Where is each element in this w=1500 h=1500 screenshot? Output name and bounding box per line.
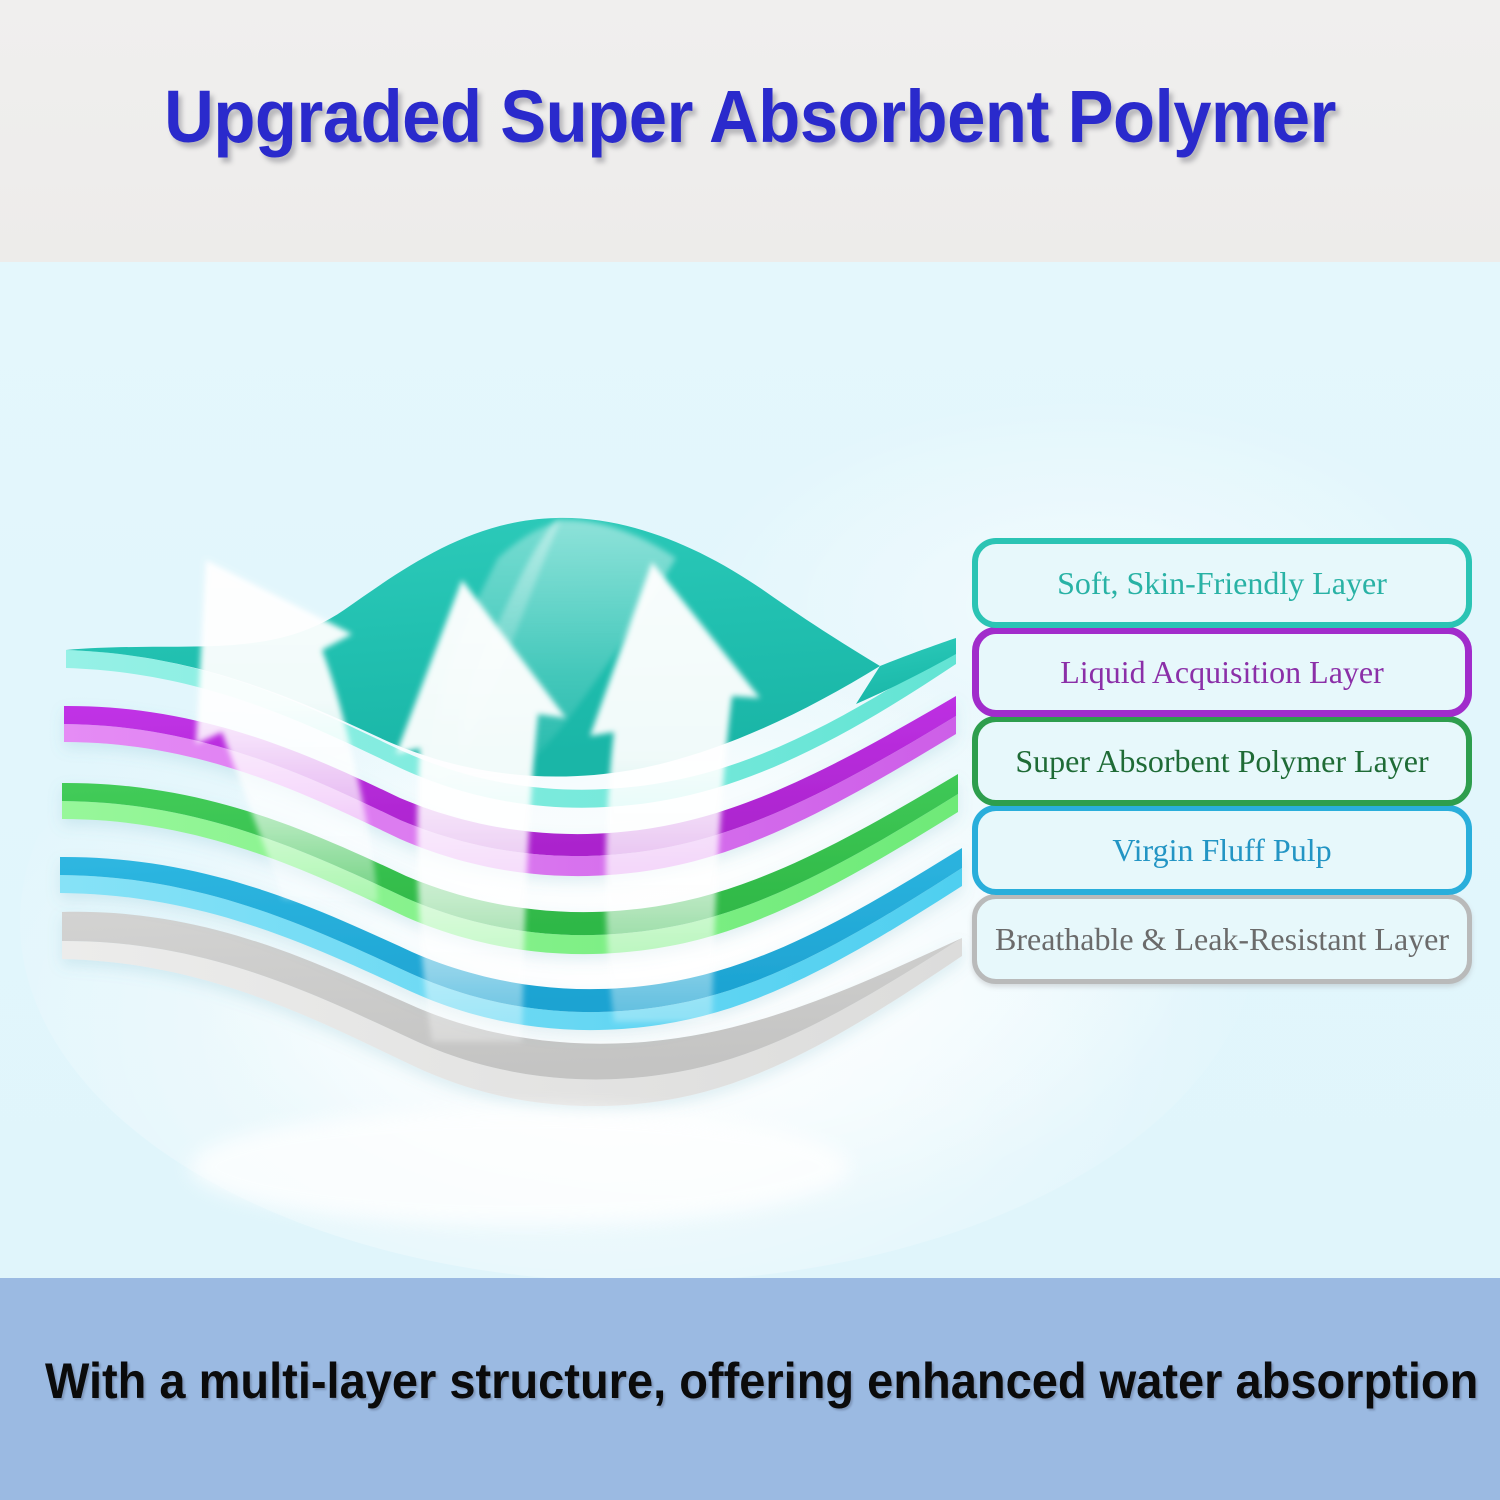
- legend-item-label: Super Absorbent Polymer Layer: [1015, 745, 1428, 777]
- legend-item-label: Breathable & Leak-Resistant Layer: [995, 923, 1449, 955]
- legend-item-super-absorbent-polymer[interactable]: Super Absorbent Polymer Layer: [972, 716, 1472, 806]
- footer-band: With a multi-layer structure, offering e…: [0, 1278, 1500, 1500]
- footer-tagline: With a multi-layer structure, offering e…: [45, 1352, 1455, 1410]
- legend-item-label: Virgin Fluff Pulp: [1112, 834, 1331, 866]
- legend-item-liquid-acquisition[interactable]: Liquid Acquisition Layer: [972, 627, 1472, 717]
- layer-legend: Soft, Skin-Friendly Layer Liquid Acquisi…: [972, 538, 1472, 983]
- page-title: Upgraded Super Absorbent Polymer: [53, 74, 1448, 159]
- legend-item-label: Liquid Acquisition Layer: [1060, 656, 1384, 688]
- legend-item-breathable-leak-resistant[interactable]: Breathable & Leak-Resistant Layer: [972, 894, 1472, 984]
- legend-item-soft-skin-friendly[interactable]: Soft, Skin-Friendly Layer: [972, 538, 1472, 628]
- legend-item-label: Soft, Skin-Friendly Layer: [1057, 567, 1387, 599]
- legend-item-virgin-fluff-pulp[interactable]: Virgin Fluff Pulp: [972, 805, 1472, 895]
- layer-diagram-stage: Soft, Skin-Friendly Layer Liquid Acquisi…: [0, 262, 1500, 1278]
- infographic-page: Upgraded Super Absorbent Polymer: [0, 0, 1500, 1500]
- header-band: Upgraded Super Absorbent Polymer: [0, 0, 1500, 262]
